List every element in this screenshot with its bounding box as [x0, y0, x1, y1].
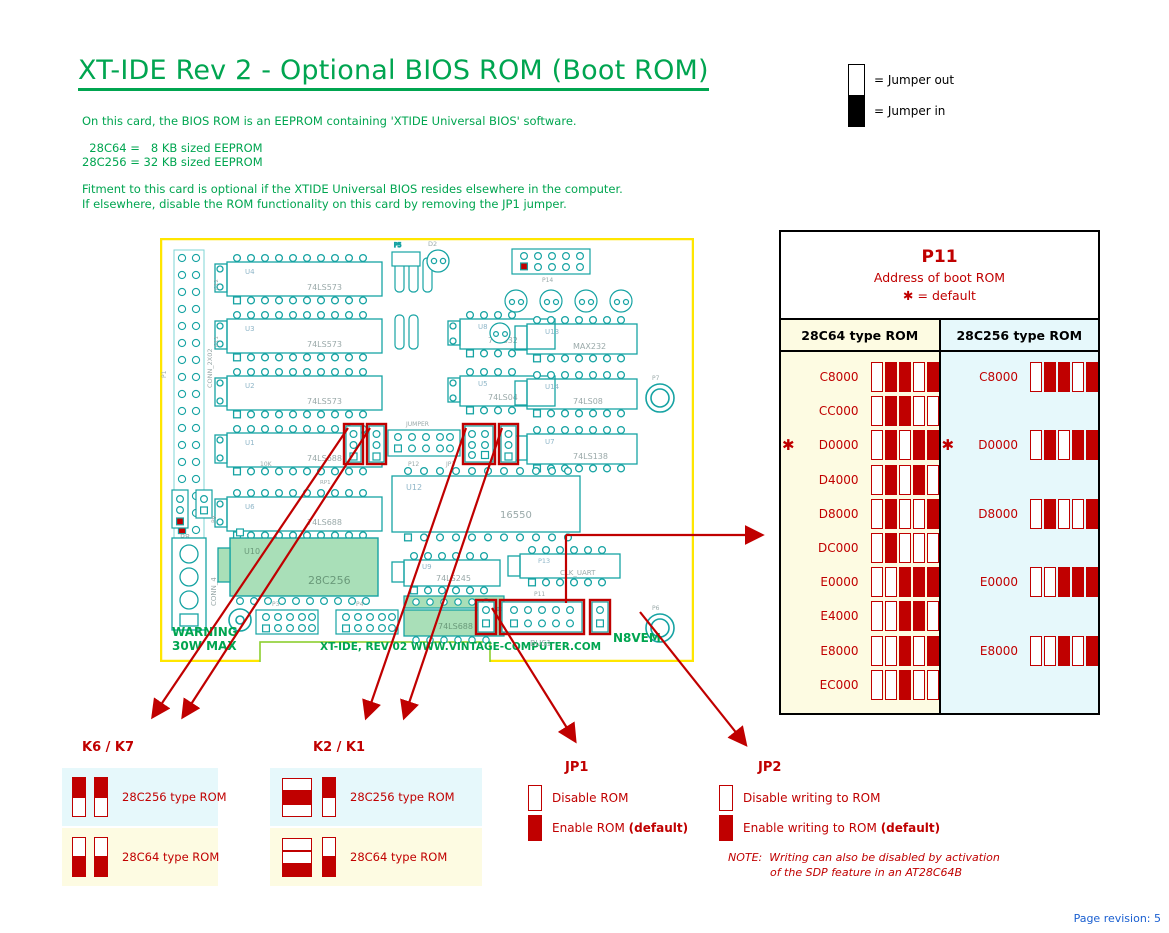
svg-text:U3: U3	[245, 325, 255, 333]
jumper-out-cell	[899, 430, 911, 460]
p11-row: E4000	[781, 599, 939, 633]
jumper-in-cell	[899, 362, 911, 392]
jumper-out-cell	[322, 797, 336, 817]
p11-rows-28c256: C8000✱D0000D8000E0000E8000	[941, 352, 1099, 713]
row-address-label: D4000	[795, 473, 871, 487]
jumper-out-cell	[871, 533, 883, 563]
svg-text:WARNING: WARNING	[172, 625, 238, 639]
k1-jumper-28c64	[322, 837, 336, 877]
row-address-label: E8000	[795, 644, 871, 658]
jumper-in-cell	[885, 533, 897, 563]
p11-col-left-header: 28C64 type ROM	[781, 320, 939, 352]
jumper-out-cell	[871, 499, 883, 529]
legend-jumper-in: = Jumper in	[848, 95, 945, 127]
jumper-out-cell	[282, 804, 312, 817]
svg-text:P3: P3	[272, 601, 280, 608]
jumper-in-cell	[282, 864, 312, 877]
jumper-in-cell	[72, 857, 86, 877]
intro-line-1: On this card, the BIOS ROM is an EEPROM …	[82, 114, 577, 129]
svg-text:U10: U10	[244, 547, 260, 556]
jumper-in-cell	[1086, 430, 1098, 460]
p11-column-28c256: 28C256 type ROM C8000✱D0000D8000E0000E80…	[941, 320, 1099, 713]
p11-row: C8000	[941, 360, 1099, 394]
p11-row: ✱D0000	[781, 428, 939, 462]
jumper-out-cell	[1030, 567, 1042, 597]
k1-jumper-28c256	[322, 777, 336, 817]
legend-jumper-out-label: = Jumper out	[874, 73, 954, 87]
svg-text:U13: U13	[545, 328, 559, 336]
svg-text:P11: P11	[534, 591, 545, 598]
jumper-out-cell	[913, 670, 925, 700]
jumper-in-cell	[927, 362, 939, 392]
jp2-jumper-in-icon	[719, 815, 733, 841]
jumper-out-cell	[927, 396, 939, 426]
jumper-out-cell	[913, 499, 925, 529]
p11-col-right-header: 28C256 type ROM	[941, 320, 1099, 352]
p11-name: P11	[921, 247, 957, 267]
svg-text:CLK_UART: CLK_UART	[560, 569, 596, 577]
jumper-in-cell	[1044, 430, 1056, 460]
jp2-option-disable: Disable writing to ROM	[719, 785, 880, 811]
jp2-title: JP2	[758, 760, 781, 775]
row-jumper-block	[871, 396, 939, 426]
default-note-text: = default	[918, 288, 976, 303]
row-address-label: C8000	[954, 370, 1030, 384]
svg-text:74LS08: 74LS08	[573, 397, 603, 406]
jumper-out-cell	[871, 396, 883, 426]
p11-row: E0000	[781, 565, 939, 599]
svg-text:16550: 16550	[500, 510, 532, 521]
default-star-icon: ✱	[903, 288, 913, 303]
jumper-out-cell	[72, 837, 86, 857]
jumper-in-cell	[885, 396, 897, 426]
k2k1-title: K2 / K1	[313, 740, 365, 755]
jumper-out-cell	[282, 778, 312, 791]
row-address-label: E4000	[795, 609, 871, 623]
k2k1-28c64-row: 28C64 type ROM	[270, 828, 482, 886]
jumper-out-cell	[1058, 499, 1070, 529]
p11-default-note: ✱ = default	[903, 288, 976, 303]
k6k7-28c256-row: 28C256 type ROM	[62, 768, 218, 826]
svg-text:MAX232: MAX232	[573, 342, 606, 351]
svg-text:C12: C12	[214, 279, 220, 290]
jumper-out-cell	[871, 601, 883, 631]
jumper-out-cell	[1058, 430, 1070, 460]
svg-text:74LS573: 74LS573	[307, 397, 342, 406]
jumper-in-cell	[927, 636, 939, 666]
k6-jumper-28c64	[72, 837, 86, 877]
jumper-in-cell	[913, 567, 925, 597]
svg-text:BUS1: BUS1	[530, 639, 552, 648]
k2k1-28c256-row: 28C256 type ROM	[270, 768, 482, 826]
jumper-out-cell	[885, 636, 897, 666]
p11-row: ✱D0000	[941, 428, 1099, 462]
jumper-in-cell	[1086, 499, 1098, 529]
p11-table-header: P11 Address of boot ROM ✱ = default	[781, 232, 1098, 320]
row-jumper-block	[871, 430, 939, 460]
jumper-in-cell	[927, 430, 939, 460]
jumper-in-cell	[1086, 636, 1098, 666]
jumper-in-cell	[885, 362, 897, 392]
row-jumper-block	[871, 670, 939, 700]
jumper-out-cell	[871, 465, 883, 495]
jumper-out-cell	[885, 670, 897, 700]
svg-text:U12: U12	[406, 483, 422, 492]
svg-text:P12: P12	[408, 461, 419, 468]
jp2-note: NOTE: Writing can also be disabled by ac…	[728, 850, 1000, 880]
jp1-title: JP1	[565, 760, 588, 775]
p11-subtitle: Address of boot ROM	[874, 270, 1005, 285]
jumper-out-cell	[927, 465, 939, 495]
jumper-in-cell	[1086, 362, 1098, 392]
p11-row: CC000	[781, 394, 939, 428]
svg-text:U7: U7	[545, 438, 555, 446]
row-address-label: E0000	[795, 575, 871, 589]
jp1-enable-default: (default)	[629, 821, 688, 835]
row-address-label: D8000	[954, 507, 1030, 521]
jumper-out-cell	[1030, 636, 1042, 666]
k2k1-28c64-label: 28C64 type ROM	[350, 850, 447, 864]
intro-line-3: 28C256 = 32 KB sized EEPROM	[82, 155, 263, 170]
jumper-in-cell	[1044, 499, 1056, 529]
svg-text:30W MAX: 30W MAX	[172, 639, 237, 653]
jumper-in-cell	[913, 465, 925, 495]
jp1-disable-label: Disable ROM	[552, 791, 628, 805]
jp1-enable-text: Enable ROM	[552, 821, 625, 835]
pcb-board-illustration: P1 CONN_2X02 U4 74LS573 C12	[160, 238, 694, 662]
jumper-out-cell	[1044, 567, 1056, 597]
svg-text:U5: U5	[478, 380, 488, 388]
jumper-in-cell	[1058, 567, 1070, 597]
k7-jumper-28c64	[94, 837, 108, 877]
svg-text:U4: U4	[245, 268, 255, 276]
jumper-out-cell	[913, 396, 925, 426]
jumper-out-cell	[913, 636, 925, 666]
svg-text:U1: U1	[245, 439, 255, 447]
p11-row: D4000	[781, 463, 939, 497]
row-address-label: E0000	[954, 575, 1030, 589]
row-jumper-block	[871, 636, 939, 666]
jumper-in-cell	[927, 499, 939, 529]
jumper-in-cell	[1072, 430, 1084, 460]
svg-text:P7: P7	[652, 375, 660, 382]
p11-rows-28c64: C8000CC000✱D0000D4000D8000DC000E0000E400…	[781, 352, 939, 713]
jumper-in-cell	[913, 601, 925, 631]
jumper-out-cell	[885, 601, 897, 631]
row-address-label: D8000	[795, 507, 871, 521]
jumper-out-cell	[871, 430, 883, 460]
svg-text:74LS138: 74LS138	[573, 452, 608, 461]
svg-text:U8: U8	[478, 323, 488, 331]
p11-row: C8000	[781, 360, 939, 394]
row-jumper-block	[871, 533, 939, 563]
row-default-star-icon: ✱	[781, 438, 795, 452]
row-address-label: CC000	[795, 404, 871, 418]
p11-column-28c64: 28C64 type ROM C8000CC000✱D0000D4000D800…	[781, 320, 941, 713]
jp2-enable-default: (default)	[881, 821, 940, 835]
k2-jumper-28c64	[282, 838, 312, 877]
p11-row: E0000	[941, 565, 1099, 599]
jumper-out-cell	[913, 362, 925, 392]
k2k1-28c256-label: 28C256 type ROM	[350, 790, 455, 804]
row-address-label: EC000	[795, 678, 871, 692]
jumper-out-icon	[848, 64, 865, 96]
jumper-out-cell	[871, 636, 883, 666]
p11-row: E8000	[941, 634, 1099, 668]
jp2-option-enable: Enable writing to ROM (default)	[719, 815, 940, 841]
jumper-out-cell	[1072, 636, 1084, 666]
svg-text:P9: P9	[211, 515, 218, 523]
svg-text:P14: P14	[542, 277, 553, 284]
jumper-in-cell	[282, 791, 312, 804]
k6k7-28c64-label: 28C64 type ROM	[122, 850, 219, 864]
row-jumper-block	[1030, 567, 1098, 597]
jumper-out-cell	[913, 533, 925, 563]
svg-text:74LS688: 74LS688	[307, 518, 342, 527]
jumper-in-cell	[1058, 362, 1070, 392]
jp2-disable-label: Disable writing to ROM	[743, 791, 880, 805]
legend-jumper-in-label: = Jumper in	[874, 104, 945, 118]
svg-text:D2: D2	[428, 240, 437, 248]
row-address-label: DC000	[795, 541, 871, 555]
svg-text:N8VEM: N8VEM	[613, 631, 661, 645]
k2-jumper-28c256	[282, 778, 312, 817]
jumper-in-cell	[899, 601, 911, 631]
svg-text:74LS04: 74LS04	[488, 393, 518, 402]
svg-text:P4: P4	[356, 601, 364, 608]
jp1-option-disable: Disable ROM	[528, 785, 628, 811]
jumper-out-cell	[1072, 362, 1084, 392]
svg-text:74LS688: 74LS688	[307, 454, 342, 463]
svg-text:P6: P6	[652, 605, 660, 612]
jp1-enable-label: Enable ROM (default)	[552, 821, 688, 835]
svg-text:JUMPER: JUMPER	[405, 421, 429, 428]
jumper-out-cell	[871, 670, 883, 700]
svg-text:74LS573: 74LS573	[307, 283, 342, 292]
jumper-out-cell	[927, 533, 939, 563]
intro-line-4: Fitment to this card is optional if the …	[82, 182, 623, 212]
k6k7-28c256-label: 28C256 type ROM	[122, 790, 227, 804]
svg-text:CONN_4: CONN_4	[210, 577, 218, 606]
svg-text:XT-IDE, REV 02 WWW.VINTAGE-C: XT-IDE, REV 02 WWW.VINTAGE-COMPUTER.COM	[320, 641, 601, 653]
svg-text:U6: U6	[245, 503, 255, 511]
jumper-in-cell	[1072, 567, 1084, 597]
svg-text:RP1: RP1	[320, 480, 331, 486]
jumper-in-cell	[94, 857, 108, 877]
jp1-option-enable: Enable ROM (default)	[528, 815, 688, 841]
page-revision: Page revision: 5	[1074, 912, 1161, 925]
jp2-enable-label: Enable writing to ROM (default)	[743, 821, 940, 835]
jumper-out-cell	[282, 838, 312, 851]
jumper-out-cell	[72, 797, 86, 817]
jumper-out-cell	[899, 533, 911, 563]
jumper-out-cell	[871, 567, 883, 597]
p11-row: E8000	[781, 634, 939, 668]
jumper-out-cell	[282, 851, 312, 864]
jp2-enable-text: Enable writing to ROM	[743, 821, 877, 835]
row-jumper-block	[1030, 362, 1098, 392]
jumper-in-cell	[899, 396, 911, 426]
jumper-out-cell	[94, 797, 108, 817]
jumper-in-cell	[885, 465, 897, 495]
row-address-label: E8000	[954, 644, 1030, 658]
legend-jumper-out: = Jumper out	[848, 64, 954, 96]
row-jumper-block	[871, 567, 939, 597]
svg-text:U14: U14	[545, 383, 560, 391]
row-jumper-block	[871, 601, 939, 631]
jumper-out-cell	[94, 837, 108, 857]
svg-text:28C256: 28C256	[308, 574, 351, 587]
row-default-star-icon: ✱	[941, 438, 955, 452]
svg-text:P1: P1	[161, 370, 168, 378]
p11-row: D8000	[941, 497, 1099, 531]
page-title: XT-IDE Rev 2 - Optional BIOS ROM (Boot R…	[78, 55, 709, 91]
row-jumper-block	[1030, 636, 1098, 666]
jumper-out-cell	[927, 670, 939, 700]
jumper-in-cell	[1086, 567, 1098, 597]
jumper-out-cell	[322, 837, 336, 857]
jumper-in-cell	[899, 636, 911, 666]
k6k7-28c64-row: 28C64 type ROM	[62, 828, 218, 886]
p11-row: DC000	[781, 531, 939, 565]
row-address-label: C8000	[795, 370, 871, 384]
p11-row: EC000	[781, 668, 939, 702]
row-jumper-block	[871, 362, 939, 392]
row-jumper-block	[871, 499, 939, 529]
jp1-jumper-out-icon	[528, 785, 542, 811]
intro-line-2: 28C64 = 8 KB sized EEPROM	[82, 141, 263, 156]
jumper-in-cell	[927, 567, 939, 597]
jumper-in-cell	[322, 777, 336, 797]
p11-address-table: P11 Address of boot ROM ✱ = default 28C6…	[779, 230, 1100, 715]
jumper-in-cell	[885, 499, 897, 529]
svg-text:10K: 10K	[260, 461, 273, 468]
jumper-in-cell	[899, 567, 911, 597]
jumper-out-cell	[899, 465, 911, 495]
jumper-in-cell	[885, 430, 897, 460]
svg-text:P13: P13	[538, 557, 550, 565]
jumper-in-icon	[848, 95, 865, 127]
jumper-in-cell	[913, 430, 925, 460]
jumper-in-cell	[1044, 362, 1056, 392]
jp2-jumper-out-icon	[719, 785, 733, 811]
jumper-out-cell	[885, 567, 897, 597]
jumper-out-cell	[871, 362, 883, 392]
svg-text:JP3: JP3	[445, 461, 455, 468]
jumper-in-cell	[899, 670, 911, 700]
jumper-in-cell	[322, 857, 336, 877]
jumper-out-cell	[1044, 636, 1056, 666]
jumper-out-cell	[1030, 362, 1042, 392]
svg-text:P5: P5	[394, 242, 402, 249]
p11-row: D8000	[781, 497, 939, 531]
svg-text:74LS688: 74LS688	[438, 622, 473, 631]
svg-text:U2: U2	[245, 382, 255, 390]
k6-jumper-28c256	[72, 777, 86, 817]
jumper-in-cell	[94, 777, 108, 797]
jp1-jumper-in-icon	[528, 815, 542, 841]
k6k7-title: K6 / K7	[82, 740, 134, 755]
row-address-label: D0000	[795, 438, 871, 452]
svg-text:74LS573: 74LS573	[307, 340, 342, 349]
svg-text:CONN_2X02: CONN_2X02	[206, 349, 214, 389]
row-jumper-block	[1030, 499, 1098, 529]
svg-text:74LS245: 74LS245	[436, 574, 471, 583]
jumper-out-cell	[1072, 499, 1084, 529]
svg-text:C11: C11	[214, 336, 220, 347]
jumper-in-cell	[1058, 636, 1070, 666]
row-jumper-block	[1030, 430, 1098, 460]
jumper-out-cell	[1030, 499, 1042, 529]
jumper-in-cell	[72, 777, 86, 797]
jumper-out-cell	[1030, 430, 1042, 460]
svg-text:U9: U9	[422, 563, 432, 571]
jumper-out-cell	[927, 601, 939, 631]
row-address-label: D0000	[954, 438, 1030, 452]
k7-jumper-28c256	[94, 777, 108, 817]
jumper-out-cell	[899, 499, 911, 529]
row-jumper-block	[871, 465, 939, 495]
